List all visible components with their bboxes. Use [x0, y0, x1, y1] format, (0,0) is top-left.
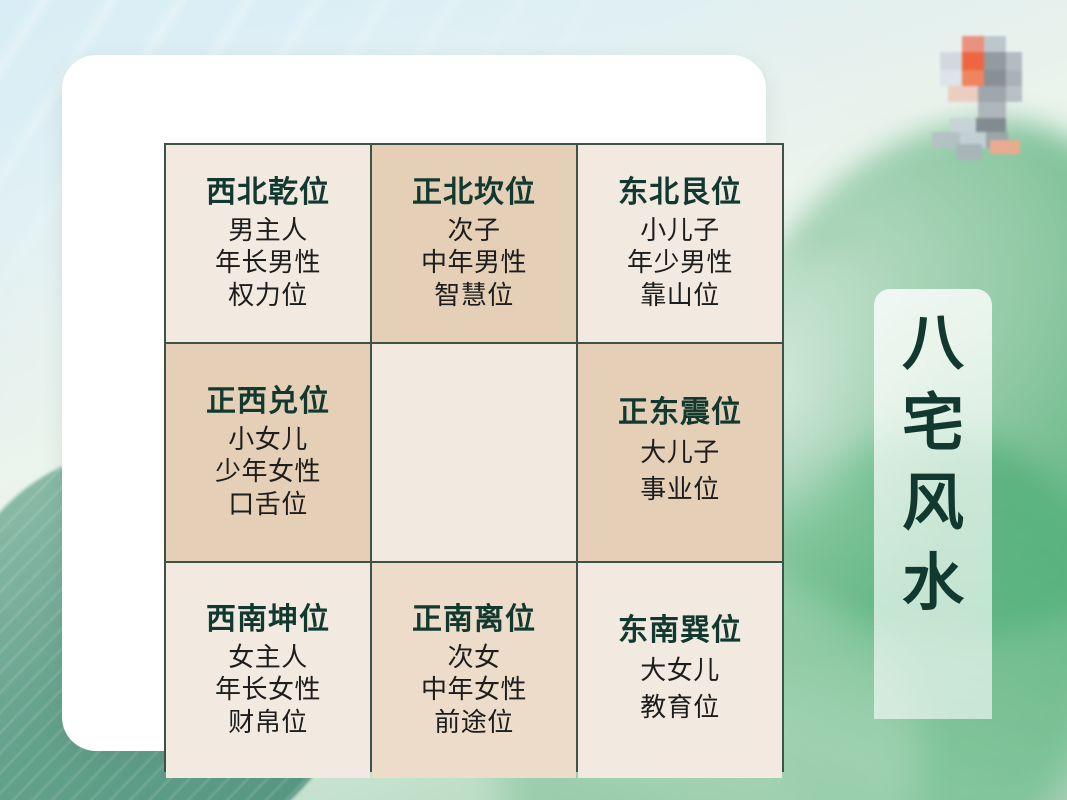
cell-line: 女主人 — [215, 641, 321, 674]
cell-line: 大儿子 — [640, 434, 720, 472]
cell-line: 事业位 — [640, 471, 720, 509]
cell-line: 权力位 — [215, 279, 321, 312]
cell-title: 正南离位 — [412, 603, 536, 637]
grid-cell-west-dui: 正西兑位小女儿少年女性口舌位 — [166, 344, 370, 561]
cell-line: 小女儿 — [215, 423, 321, 456]
cell-title: 西北乾位 — [206, 176, 330, 210]
grid-cell-northwest-qian: 西北乾位男主人年长男性权力位 — [166, 145, 370, 342]
vertical-title-char-4: 水 — [902, 553, 964, 615]
cell-title: 东北艮位 — [618, 176, 742, 210]
grid-cell-east-zhen: 正东震位大儿子事业位 — [578, 344, 782, 561]
cell-line: 财帛位 — [215, 706, 321, 739]
vertical-title-panel: 八 宅 风 水 — [874, 289, 992, 719]
grid-cell-southwest-kun: 西南坤位女主人年长女性财帛位 — [166, 563, 370, 778]
cell-line: 智慧位 — [421, 279, 527, 312]
cell-lines: 女主人年长女性财帛位 — [215, 641, 321, 739]
cell-line: 前途位 — [421, 706, 527, 739]
cell-title: 正东震位 — [618, 396, 742, 430]
cell-title: 正北坎位 — [412, 176, 536, 210]
grid-cell-north-kan: 正北坎位次子中年男性智慧位 — [372, 145, 576, 342]
content-card: 西北乾位男主人年长男性权力位正北坎位次子中年男性智慧位东北艮位小儿子年少男性靠山… — [62, 55, 766, 751]
cell-title: 正西兑位 — [206, 385, 330, 419]
cell-line: 少年女性 — [215, 455, 321, 488]
cell-lines: 男主人年长男性权力位 — [215, 214, 321, 312]
cell-line: 年长男性 — [215, 246, 321, 279]
vertical-title-char-3: 风 — [902, 473, 964, 535]
cell-lines: 次子中年男性智慧位 — [421, 214, 527, 312]
bagua-grid: 西北乾位男主人年长男性权力位正北坎位次子中年男性智慧位东北艮位小儿子年少男性靠山… — [164, 143, 784, 772]
cell-line: 年少男性 — [627, 246, 733, 279]
grid-cell-southeast-xun: 东南巽位大女儿教育位 — [578, 563, 782, 778]
grid-cell-center-empty — [372, 344, 576, 561]
cell-line: 次女 — [421, 641, 527, 674]
cell-title: 东南巽位 — [618, 614, 742, 648]
cell-line: 小儿子 — [627, 214, 733, 247]
cell-line: 教育位 — [640, 689, 720, 727]
grid-cell-northeast-gen: 东北艮位小儿子年少男性靠山位 — [578, 145, 782, 342]
cell-line: 年长女性 — [215, 673, 321, 706]
cell-line: 口舌位 — [215, 488, 321, 521]
grid-cell-south-li: 正南离位次女中年女性前途位 — [372, 563, 576, 778]
cell-line: 中年男性 — [421, 246, 527, 279]
cell-line: 大女儿 — [640, 652, 720, 690]
cell-line: 靠山位 — [627, 279, 733, 312]
cell-line: 次子 — [421, 214, 527, 247]
vertical-title-char-1: 八 — [902, 313, 964, 375]
watermark-logo-icon — [928, 36, 1038, 160]
poster-canvas: 西北乾位男主人年长男性权力位正北坎位次子中年男性智慧位东北艮位小儿子年少男性靠山… — [0, 0, 1067, 800]
cell-lines: 大女儿教育位 — [640, 652, 720, 727]
vertical-title: 八 宅 风 水 — [874, 313, 992, 615]
cell-lines: 大儿子事业位 — [640, 434, 720, 509]
cell-line: 男主人 — [215, 214, 321, 247]
cell-lines: 次女中年女性前途位 — [421, 641, 527, 739]
vertical-title-char-2: 宅 — [902, 393, 964, 455]
cell-title: 西南坤位 — [206, 603, 330, 637]
cell-lines: 小女儿少年女性口舌位 — [215, 423, 321, 521]
cell-lines: 小儿子年少男性靠山位 — [627, 214, 733, 312]
cell-line: 中年女性 — [421, 673, 527, 706]
